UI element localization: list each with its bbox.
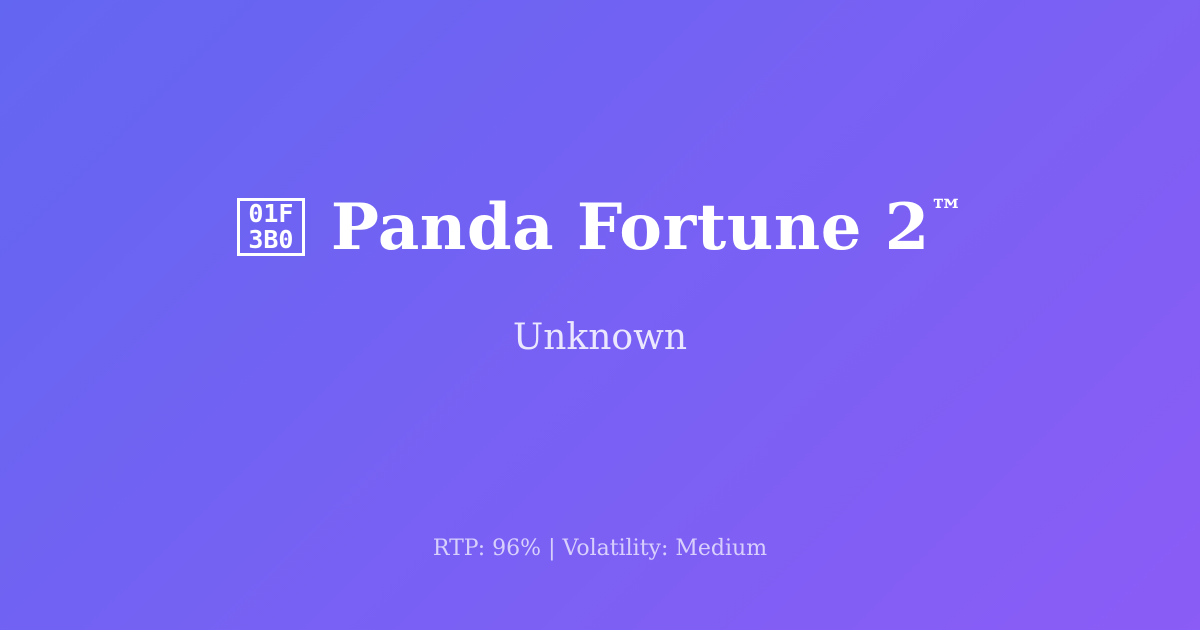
trademark-symbol: ™ — [930, 192, 963, 231]
title-row: 01F 3B0 Panda Fortune 2™ — [237, 195, 963, 260]
page-title: Panda Fortune 2™ — [331, 195, 963, 260]
tofu-codepoint-bottom: 3B0 — [248, 227, 293, 253]
game-stats-line: RTP: 96% | Volatility: Medium — [0, 536, 1200, 562]
page-title-text: Panda Fortune 2 — [331, 190, 930, 265]
slot-machine-emoji-tofu-icon: 01F 3B0 — [237, 198, 305, 256]
tofu-codepoint-top: 01F — [248, 201, 293, 227]
og-card: 01F 3B0 Panda Fortune 2™ Unknown RTP: 96… — [0, 0, 1200, 630]
provider-subtitle: Unknown — [513, 316, 687, 359]
hero-block: 01F 3B0 Panda Fortune 2™ Unknown — [237, 195, 963, 359]
